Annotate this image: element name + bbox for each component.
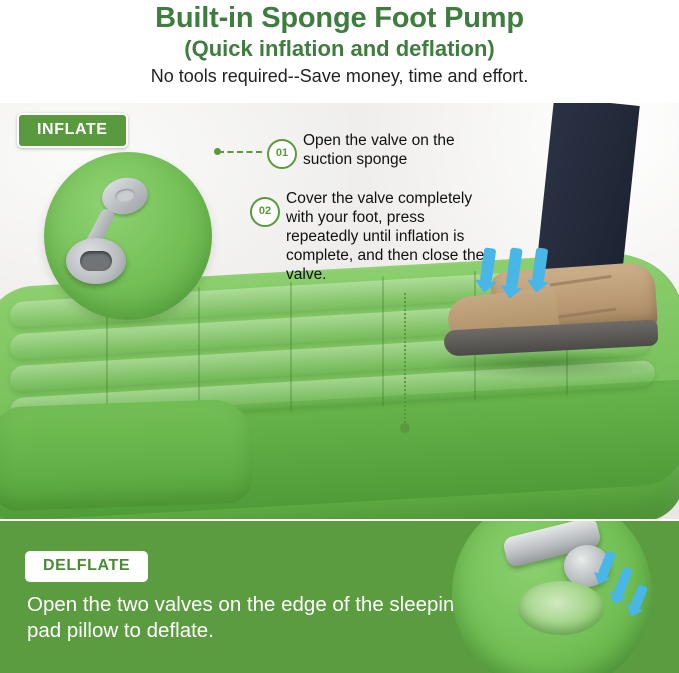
badge-inflate: INFLATE bbox=[17, 113, 128, 148]
page-subtitle: (Quick inflation and deflation) bbox=[0, 36, 679, 62]
step-text-1: Open the valve on the suction sponge bbox=[303, 131, 488, 169]
header: Built-in Sponge Foot Pump (Quick inflati… bbox=[0, 0, 679, 103]
deflate-instruction-text: Open the two valves on the edge of the s… bbox=[27, 592, 467, 644]
inflate-photo-panel: INFLATE 01 Open the valve on the suction… bbox=[0, 103, 679, 521]
product-infographic: Built-in Sponge Foot Pump (Quick inflati… bbox=[0, 0, 679, 673]
badge-deflate: DELFLATE bbox=[25, 551, 148, 582]
sleeping-pad-pillow bbox=[0, 398, 252, 511]
valve-closeup-bubble bbox=[44, 152, 212, 320]
deflate-valve-closeup-bubble bbox=[452, 521, 652, 673]
suction-sponge-valve bbox=[66, 238, 126, 284]
dotted-guide-endpoint bbox=[400, 423, 410, 433]
page-title: Built-in Sponge Foot Pump bbox=[0, 2, 679, 35]
step-number-2: 02 bbox=[250, 197, 280, 227]
leader-line-step-1 bbox=[218, 151, 262, 153]
boot bbox=[434, 267, 656, 359]
deflate-valve-seat bbox=[518, 581, 604, 635]
page-note: No tools required--Save money, time and … bbox=[0, 66, 679, 87]
deflate-panel: DELFLATE Open the two valves on the edge… bbox=[0, 521, 679, 673]
step-number-1: 01 bbox=[267, 139, 297, 169]
air-out-arrow-3 bbox=[630, 584, 648, 610]
air-out-arrow-2 bbox=[613, 566, 634, 598]
